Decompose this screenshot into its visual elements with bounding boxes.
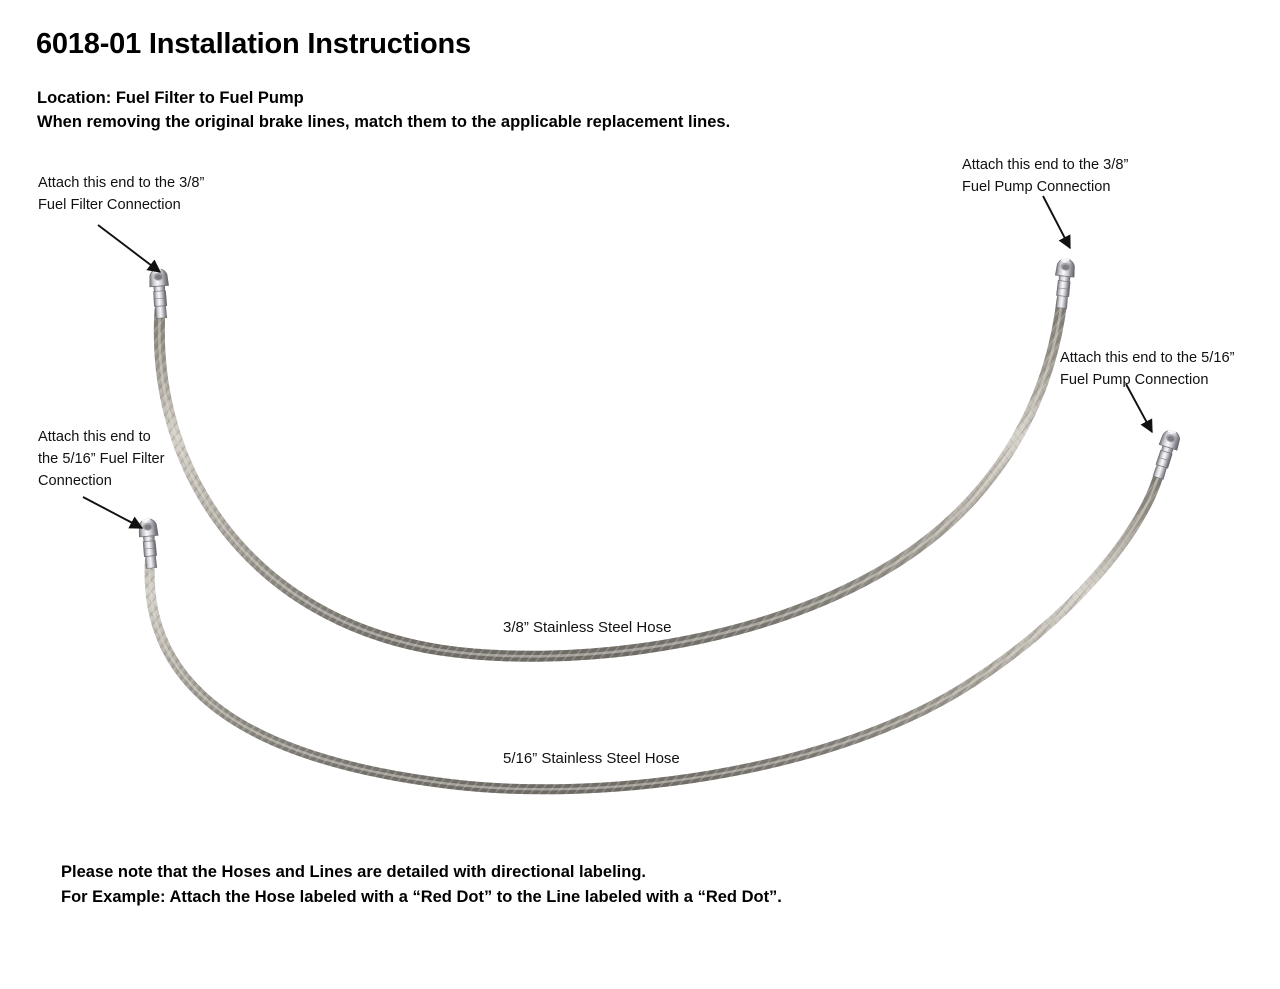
- callout-pump-516: Attach this end to the 5/16” Fuel Pump C…: [1060, 348, 1234, 392]
- arrow-filter-516: [83, 497, 142, 528]
- callout-filter-38: Attach this end to the 3/8” Fuel Filter …: [38, 173, 204, 217]
- arrow-pump-38: [1043, 196, 1070, 248]
- footer-note-line-1: Please note that the Hoses and Lines are…: [61, 861, 646, 884]
- location-line: Location: Fuel Filter to Fuel Pump: [37, 87, 304, 109]
- callout-pump-38: Attach this end to the 3/8” Fuel Pump Co…: [962, 155, 1128, 199]
- instruction-line: When removing the original brake lines, …: [37, 111, 730, 133]
- callout-arrows: [83, 196, 1152, 528]
- hose-label-38: 3/8” Stainless Steel Hose: [503, 618, 671, 638]
- hose-diagram: [0, 0, 1280, 989]
- footer-note-line-2: For Example: Attach the Hose labeled wit…: [61, 886, 782, 909]
- hose-label-516: 5/16” Stainless Steel Hose: [503, 749, 680, 769]
- hose-516-assembly: [138, 428, 1182, 789]
- hose-38-assembly: [149, 258, 1076, 656]
- instruction-sheet: 6018-01 Installation Instructions Locati…: [0, 0, 1280, 989]
- callout-filter-516: Attach this end to the 5/16” Fuel Filter…: [38, 427, 165, 493]
- page-title: 6018-01 Installation Instructions: [36, 28, 471, 61]
- arrow-filter-38: [98, 225, 160, 272]
